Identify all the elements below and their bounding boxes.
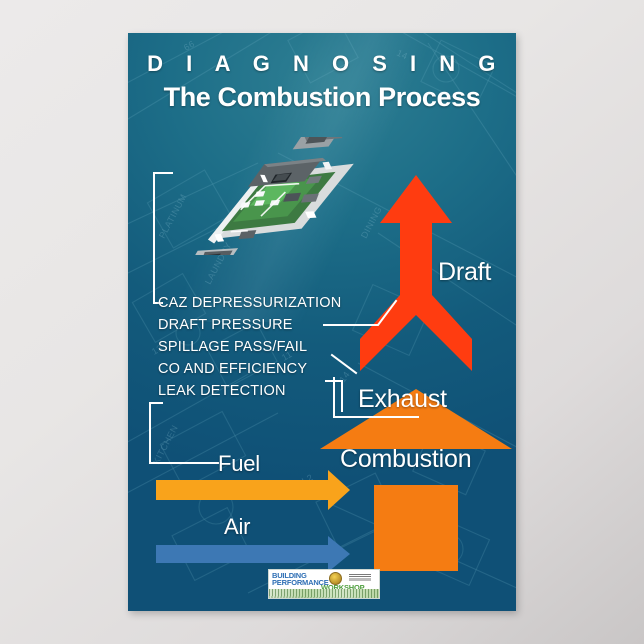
logo-secondary-mark-icon — [349, 574, 371, 581]
building-performance-workshop-logo: BUILDING PERFORMANCE WORKSHOP — [268, 569, 380, 599]
logo-green-strip — [269, 589, 379, 598]
diagnostic-co-and-efficiency: CO AND EFFICIENCY — [158, 361, 307, 377]
air-arrow-icon — [156, 536, 350, 572]
diagnostic-spillage-pass-fail: SPILLAGE PASS/FAIL — [158, 339, 307, 355]
logo-top-band: BUILDING PERFORMANCE WORKSHOP — [269, 570, 379, 588]
diagnostic-leak-detection: LEAK DETECTION — [158, 383, 286, 399]
diagnostic-draft-pressure: DRAFT PRESSURE — [158, 317, 293, 333]
label-exhaust: Exhaust — [358, 385, 447, 414]
diagnostic-caz-depressurization: CAZ DEPRESSURIZATION — [158, 295, 341, 311]
logo-seal-icon — [329, 572, 342, 585]
wall-background: 66 14 PLATINUM LAUNDRY 13 11 14 DINING 7… — [0, 0, 644, 644]
label-air: Air — [224, 514, 250, 540]
label-combustion: Combustion — [340, 445, 471, 474]
label-fuel: Fuel — [218, 451, 260, 477]
poster: 66 14 PLATINUM LAUNDRY 13 11 14 DINING 7… — [128, 33, 516, 611]
label-draft: Draft — [438, 258, 491, 287]
